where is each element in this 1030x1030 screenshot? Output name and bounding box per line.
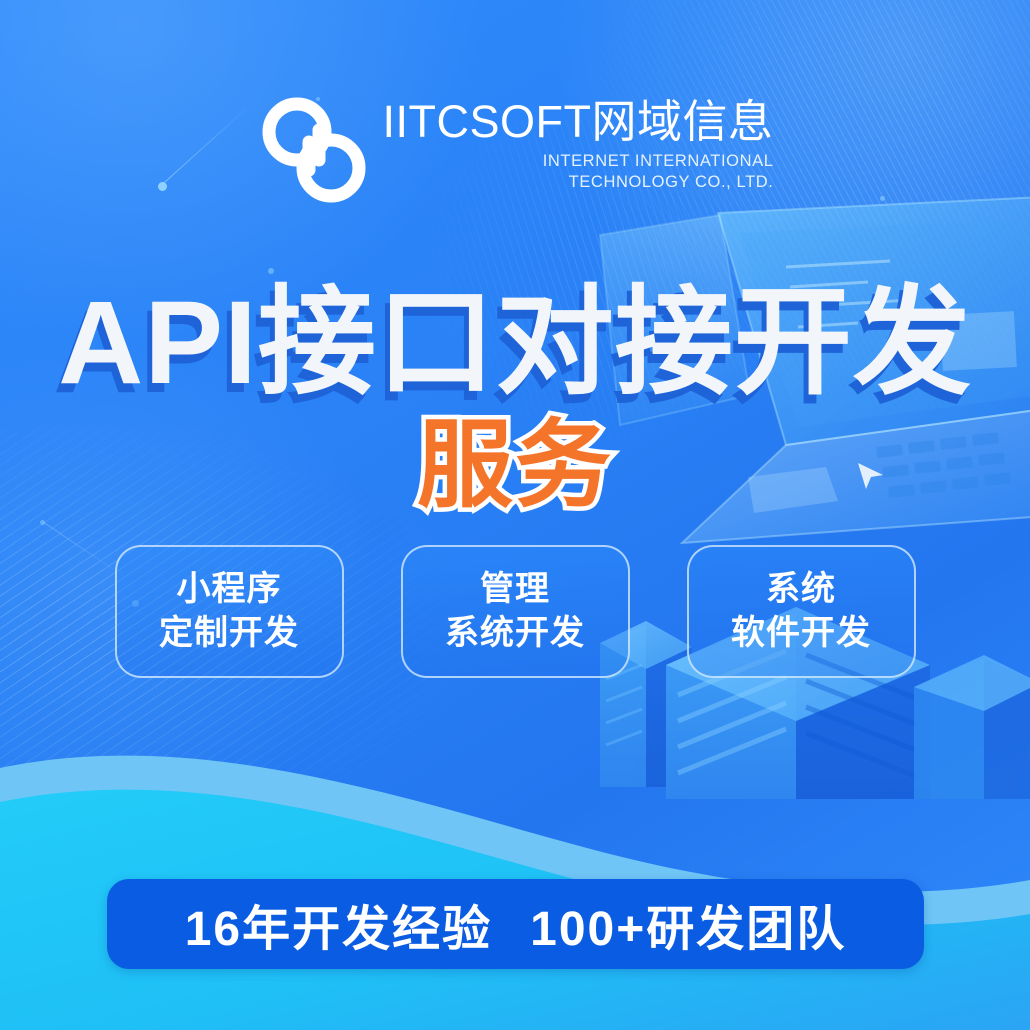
feature-pill-line2: 系统开发 — [445, 613, 585, 654]
brand-english-line2: TECHNOLOGY CO., LTD. — [543, 172, 774, 193]
node-dot — [268, 268, 274, 274]
footer-highlight-bar: 16年开发经验100+研发团队 — [107, 879, 924, 969]
brand-english-line1: INTERNET INTERNATIONAL — [543, 151, 774, 172]
feature-pill-miniprogram[interactable]: 小程序 定制开发 — [115, 545, 344, 678]
page-subtitle: 服务 — [0, 418, 1030, 514]
brand-logo: IITCSOFT网域信息 INTERNET INTERNATIONAL TECH… — [0, 86, 1030, 208]
promo-banner: IITCSOFT网域信息 INTERNET INTERNATIONAL TECH… — [0, 0, 1030, 1030]
feature-pill-line2: 定制开发 — [159, 613, 299, 654]
feature-pill-system-software[interactable]: 系统 软件开发 — [687, 545, 916, 678]
infinity-rings-logo-icon — [257, 90, 379, 208]
feature-pill-list: 小程序 定制开发 管理 系统开发 系统 软件开发 — [0, 545, 1030, 678]
footer-text: 16年开发经验100+研发团队 — [185, 889, 847, 959]
feature-pill-line1: 小程序 — [177, 569, 282, 610]
feature-pill-management-system[interactable]: 管理 系统开发 — [401, 545, 630, 678]
feature-pill-line1: 管理 — [480, 569, 550, 610]
page-title: API接口对接开发 — [0, 284, 1030, 402]
brand-name: IITCSOFT网域信息 — [383, 98, 774, 145]
node-dot — [40, 520, 45, 525]
feature-pill-line1: 系统 — [766, 569, 836, 610]
footer-experience: 16年开发经验 — [185, 903, 492, 956]
brand-text: IITCSOFT网域信息 INTERNET INTERNATIONAL TECH… — [383, 86, 774, 193]
feature-pill-line2: 软件开发 — [731, 613, 871, 654]
footer-team: 100+研发团队 — [530, 903, 846, 956]
brand-english: INTERNET INTERNATIONAL TECHNOLOGY CO., L… — [543, 151, 774, 193]
